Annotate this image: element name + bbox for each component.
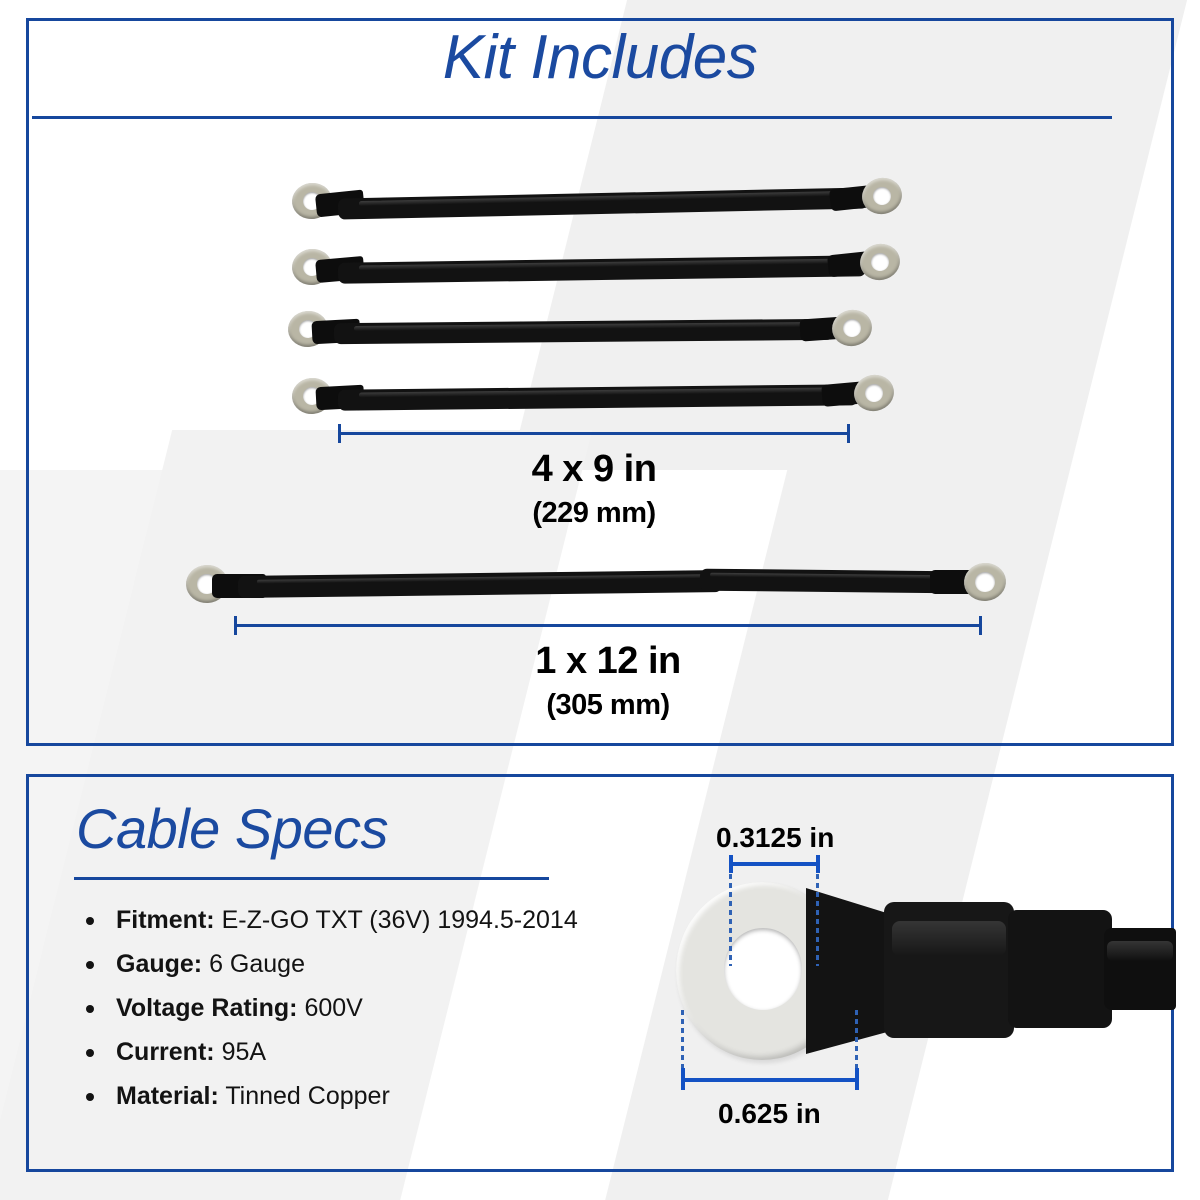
bullet-icon — [86, 1049, 94, 1057]
spec-value: 95A — [222, 1038, 266, 1066]
short-cable-dim-cap-right — [847, 424, 850, 443]
hole-diameter-label: 0.3125 in — [716, 822, 834, 854]
list-item: Voltage Rating: 600V — [78, 986, 638, 1030]
terminal-heatshrink-boot-2 — [1008, 910, 1112, 1028]
width-dim-cap-right — [855, 1068, 859, 1090]
cable-specs-title: Cable Specs — [76, 796, 388, 861]
ring-width-label: 0.625 in — [718, 1098, 821, 1130]
spec-value: 600V — [304, 994, 362, 1022]
bullet-icon — [86, 961, 94, 969]
long-cable-dim-inches: 1 x 12 in — [234, 640, 982, 683]
spec-value: 6 Gauge — [209, 950, 305, 978]
cable-specs-list: Fitment: E-Z-GO TXT (36V) 1994.5-2014 Ga… — [78, 898, 638, 1118]
width-dimension-line — [681, 1078, 859, 1082]
spec-value: Tinned Copper — [225, 1082, 389, 1110]
bullet-icon — [86, 917, 94, 925]
long-cable-dim-cap-right — [979, 616, 982, 635]
spec-label: Current: — [116, 1038, 215, 1066]
bullet-icon — [86, 1005, 94, 1013]
short-cable-dim-cap-left — [338, 424, 341, 443]
spec-label: Gauge: — [116, 950, 202, 978]
cable-sleeve — [334, 319, 834, 344]
spec-label: Material: — [116, 1082, 219, 1110]
long-cable-dimension-label: 1 x 12 in (305 mm) — [234, 640, 982, 722]
terminal-cable-sleeve — [1104, 928, 1176, 1010]
short-cable-dimension-label: 4 x 9 in (229 mm) — [338, 448, 850, 530]
cable-specs-underline — [74, 877, 549, 880]
spec-value: E-Z-GO TXT (36V) 1994.5-2014 — [222, 906, 578, 934]
width-dim-cap-left — [681, 1068, 685, 1090]
terminal-heatshrink-boot — [884, 902, 1014, 1038]
long-cable-dimension-line — [234, 624, 982, 627]
long-cable-dim-mm: (305 mm) — [234, 689, 982, 722]
hole-dim-cap-left — [729, 855, 733, 873]
short-cable-dim-inches: 4 x 9 in — [338, 448, 850, 491]
long-cable-dim-cap-left — [234, 616, 237, 635]
list-item: Fitment: E-Z-GO TXT (36V) 1994.5-2014 — [78, 898, 638, 942]
list-item: Current: 95A — [78, 1030, 638, 1074]
short-cable-dimension-line — [338, 432, 850, 435]
kit-includes-panel — [26, 18, 1174, 746]
list-item: Material: Tinned Copper — [78, 1074, 638, 1118]
spec-label: Fitment: — [116, 906, 215, 934]
short-cable-dim-mm: (229 mm) — [338, 497, 850, 530]
bullet-icon — [86, 1093, 94, 1101]
spec-label: Voltage Rating: — [116, 994, 297, 1022]
cable-sleeve-2 — [700, 569, 958, 594]
list-item: Gauge: 6 Gauge — [78, 942, 638, 986]
hole-dim-cap-right — [816, 855, 820, 873]
hole-dimension-line — [729, 862, 820, 866]
